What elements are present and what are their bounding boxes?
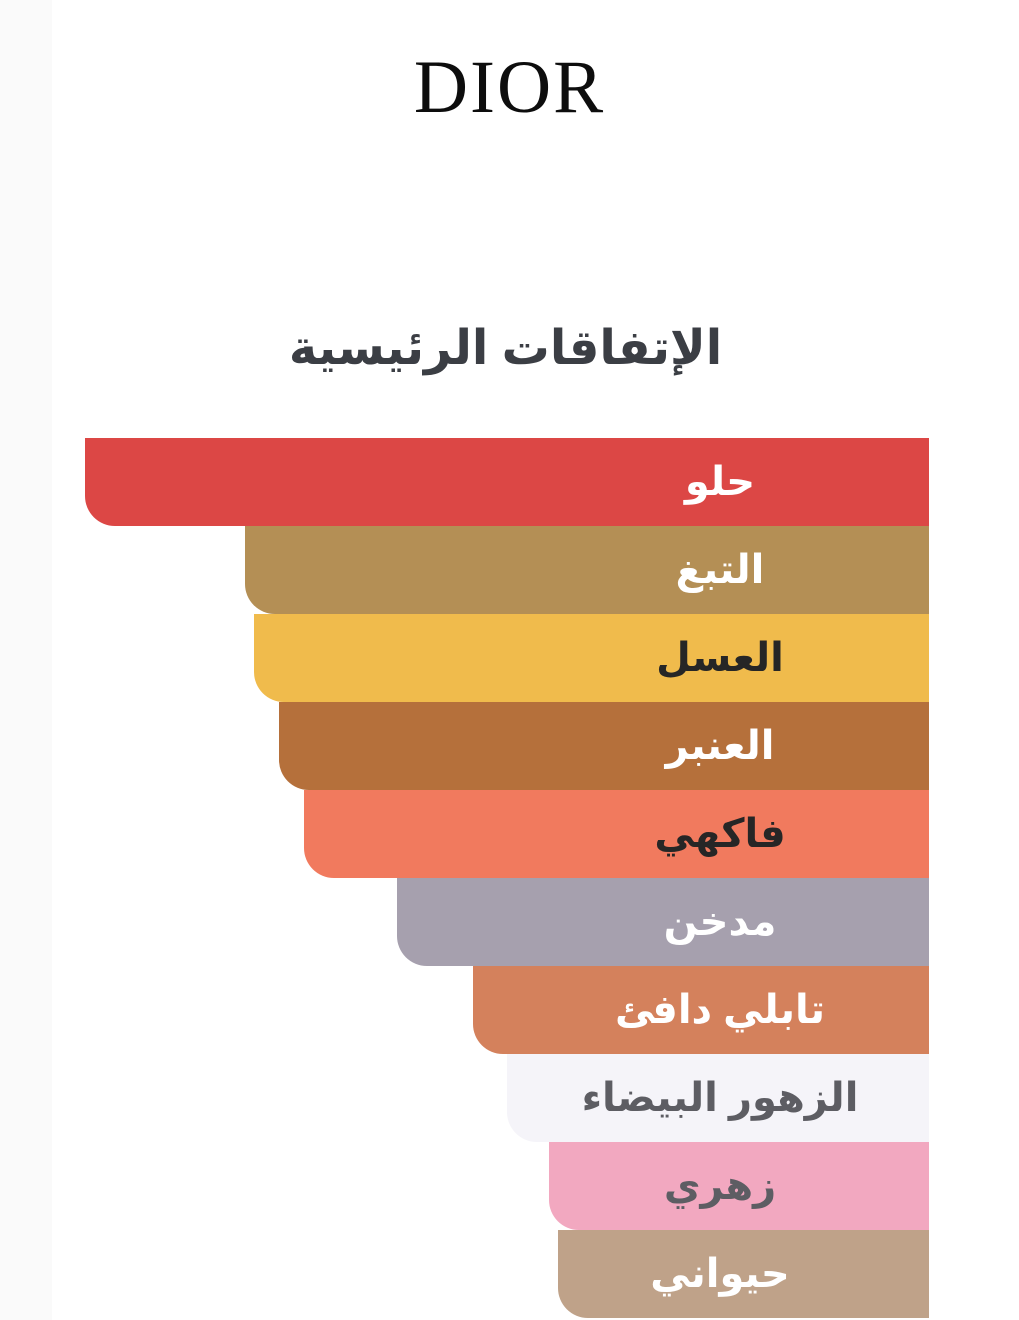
accord-label: العنبر <box>666 724 775 768</box>
accord-row: التبغ <box>0 526 1019 614</box>
accord-row: تابلي دافئ <box>0 966 1019 1054</box>
accord-label: مدخن <box>664 900 777 944</box>
accord-label: فاكهي <box>654 812 785 856</box>
accord-bar[interactable]: التبغ <box>245 526 929 614</box>
accord-label: حلو <box>685 460 755 504</box>
accord-row: حلو <box>0 438 1019 526</box>
accord-label: الزهور البيضاء <box>582 1076 859 1120</box>
accord-row: العنبر <box>0 702 1019 790</box>
accord-label: العسل <box>656 636 784 680</box>
accord-label: زهري <box>664 1164 776 1208</box>
accord-row: زهري <box>0 1142 1019 1230</box>
accord-label: تابلي دافئ <box>615 988 825 1032</box>
accord-bar[interactable]: تابلي دافئ <box>473 966 929 1054</box>
accord-bar[interactable]: العنبر <box>279 702 929 790</box>
accord-row: حيواني <box>0 1230 1019 1318</box>
accord-bar[interactable]: حلو <box>85 438 929 526</box>
chart-title: الإتفاقات الرئيسية <box>0 318 1019 380</box>
accord-bar[interactable]: فاكهي <box>304 790 929 878</box>
accord-bar[interactable]: العسل <box>254 614 929 702</box>
accords-page: DIOR الإتفاقات الرئيسية حلوالتبغالعسلالع… <box>0 0 1019 1320</box>
accord-row: مدخن <box>0 878 1019 966</box>
dior-brand-logo: DIOR <box>0 48 1019 128</box>
accord-bar[interactable]: مدخن <box>397 878 929 966</box>
accord-label: حيواني <box>650 1252 789 1296</box>
main-accords-chart: حلوالتبغالعسلالعنبرفاكهيمدخنتابلي دافئال… <box>0 438 1019 1318</box>
accord-bar[interactable]: زهري <box>549 1142 929 1230</box>
accord-row: الزهور البيضاء <box>0 1054 1019 1142</box>
accord-bar[interactable]: حيواني <box>558 1230 929 1318</box>
accord-label: التبغ <box>676 548 765 592</box>
accord-row: فاكهي <box>0 790 1019 878</box>
accord-bar[interactable]: الزهور البيضاء <box>507 1054 929 1142</box>
accord-row: العسل <box>0 614 1019 702</box>
